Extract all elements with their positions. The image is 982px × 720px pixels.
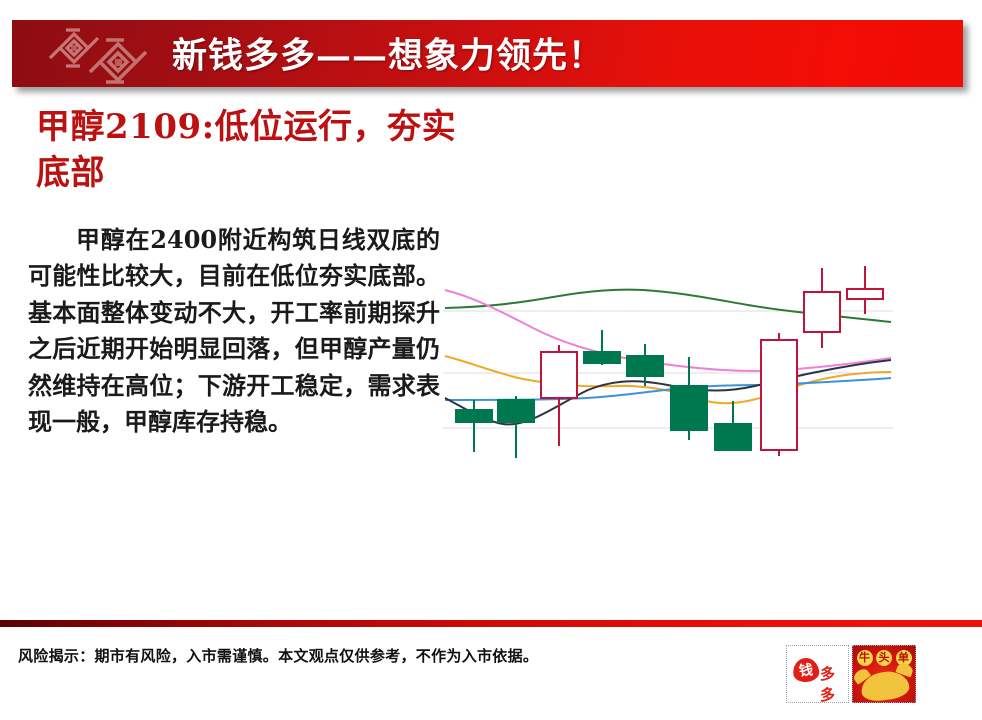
niutoudan-logo: 牛 头 单	[852, 645, 916, 703]
header-title: 新钱多多——想象力领先！	[172, 27, 604, 78]
bull-head-icon	[859, 669, 910, 703]
chart-svg	[443, 252, 893, 480]
candle-8	[761, 333, 797, 456]
candle-5	[627, 344, 663, 386]
chinese-knot-icon	[40, 24, 158, 84]
candle-3	[541, 345, 577, 446]
candle-6	[671, 357, 707, 440]
candle-9	[804, 268, 840, 348]
page-title: 甲醇2109:低位运行，夯实底部	[36, 104, 466, 196]
niutoudan-char-2: 头	[876, 650, 892, 666]
risk-disclaimer: 风险揭示：期市有风险，入市需谨慎。本文观点仅供参考，不作为入市依据。	[18, 645, 538, 666]
heart-icon	[792, 657, 820, 684]
candlestick-chart	[443, 252, 893, 480]
header-banner: 新钱多多——想象力领先！	[12, 20, 963, 87]
candlestick-series	[456, 266, 883, 458]
ma-blue-line	[445, 378, 891, 400]
candle-7	[715, 401, 751, 450]
body-paragraph: 甲醇在2400附近构筑日线双底的可能性比较大，目前在低位夯实底部。基本面整体变动…	[28, 222, 440, 441]
niutoudan-char-1: 牛	[857, 650, 873, 666]
footer-divider	[0, 620, 982, 627]
candle-2	[498, 396, 534, 458]
footer-logo: 多多 牛 头 单	[786, 645, 916, 703]
qianduoduo-logo: 多多	[786, 645, 849, 703]
qianduoduo-text: 多多	[820, 663, 848, 705]
ma-orange-line	[445, 356, 891, 403]
candle-10	[847, 266, 883, 314]
candle-4	[584, 330, 620, 365]
